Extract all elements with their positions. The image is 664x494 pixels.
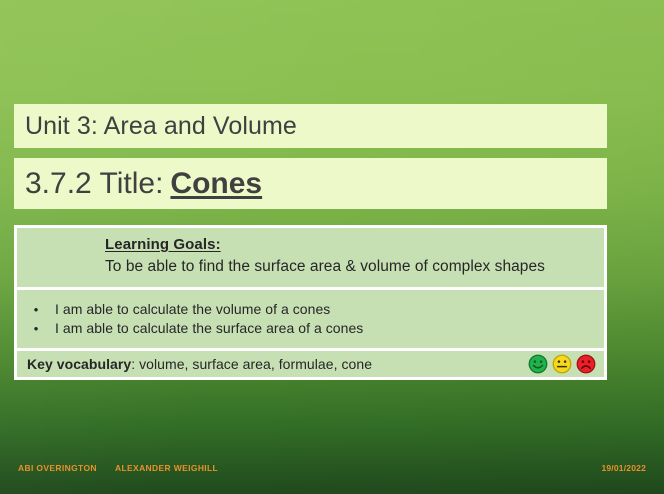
key-vocabulary-label: Key vocabulary — [27, 356, 131, 372]
self-assessment-faces[interactable] — [528, 354, 596, 374]
learning-goals-text: To be able to find the surface area & vo… — [105, 256, 594, 278]
unit-heading-bar: Unit 3: Area and Volume — [14, 104, 607, 148]
key-vocabulary-words: volume, surface area, formulae, cone — [139, 356, 372, 372]
lesson-title-topic: Cones — [170, 167, 262, 201]
neutral-face-icon[interactable] — [552, 354, 572, 374]
slide-canvas: Unit 3: Area and Volume 3.7.2 Title: Con… — [0, 0, 664, 494]
list-item: • I am able to calculate the surface are… — [17, 319, 594, 338]
key-vocabulary-separator: : — [131, 356, 135, 372]
lesson-title-prefix: 3.7.2 Title: — [25, 167, 163, 201]
list-item: • I am able to calculate the volume of a… — [17, 300, 594, 319]
content-stack: Learning Goals: To be able to find the s… — [14, 225, 607, 380]
objective-label: I am able to calculate the volume of a c… — [55, 300, 594, 319]
footer-date: 19/01/2022 — [601, 463, 646, 473]
sad-face-icon[interactable] — [576, 354, 596, 374]
key-vocabulary-panel: Key vocabulary: volume, surface area, fo… — [17, 351, 604, 377]
slide-footer: ABI OVERINGTON ALEXANDER WEIGHILL 19/01/… — [0, 450, 664, 494]
happy-face-icon[interactable] — [528, 354, 548, 374]
footer-author-primary: ABI OVERINGTON — [18, 463, 97, 473]
unit-heading-text: Unit 3: Area and Volume — [25, 112, 297, 141]
lesson-title-bar: 3.7.2 Title: Cones — [14, 158, 607, 209]
footer-author-secondary: ALEXANDER WEIGHILL — [115, 463, 218, 473]
key-vocabulary-line: Key vocabulary: volume, surface area, fo… — [27, 356, 372, 372]
learning-goals-panel: Learning Goals: To be able to find the s… — [17, 228, 604, 287]
bullet-icon: • — [17, 319, 55, 338]
objectives-panel: • I am able to calculate the volume of a… — [17, 290, 604, 348]
bullet-icon: • — [17, 300, 55, 319]
learning-goals-heading: Learning Goals: — [105, 235, 594, 254]
objective-label: I am able to calculate the surface area … — [55, 319, 594, 338]
